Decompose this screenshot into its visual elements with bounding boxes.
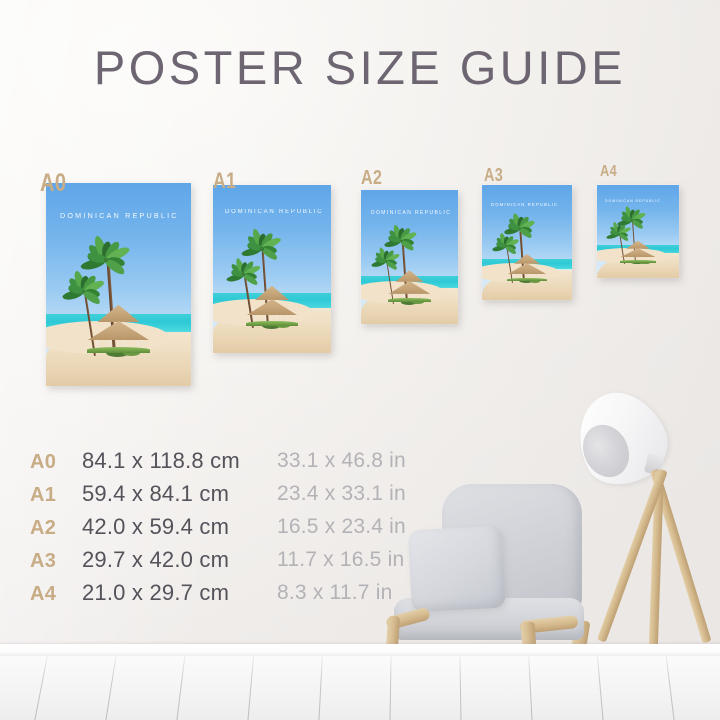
floor-plank	[528, 656, 534, 720]
floor-plank	[318, 656, 324, 720]
floor-plank	[665, 656, 677, 720]
poster-artwork-title: DOMINICAN REPUBLIC	[491, 202, 558, 207]
legend-cm-value: 84.1 x 118.8 cm	[82, 448, 240, 474]
hut-grass	[388, 298, 431, 302]
palm-crown	[518, 228, 520, 230]
poster-size-guide-image: POSTER SIZE GUIDE DOMINICAN REPUBLICA0DO…	[0, 0, 720, 720]
legend-code: A1	[30, 484, 56, 507]
poster-size-label-a3: A3	[484, 166, 503, 184]
floor-plank	[246, 656, 255, 720]
floor-plank	[31, 656, 49, 720]
chair-cushion	[408, 526, 506, 613]
legend-code: A3	[30, 550, 56, 573]
legend-code: A4	[30, 583, 56, 606]
poster-size-label-a2: A2	[361, 168, 382, 188]
poster-a2[interactable]: DOMINICAN REPUBLIC	[361, 190, 458, 324]
palm-crown	[631, 219, 633, 221]
legend-cm-value: 21.0 x 29.7 cm	[82, 580, 229, 606]
palm-crown	[260, 247, 263, 250]
poster-a0[interactable]: DOMINICAN REPUBLIC	[46, 183, 191, 386]
legend-cm-value: 29.7 x 42.0 cm	[82, 547, 229, 573]
floor-plank	[103, 656, 118, 720]
hut-grass	[246, 321, 298, 326]
hut-grass	[507, 278, 547, 281]
poster-size-label-a0: A0	[40, 171, 66, 196]
poster-a4[interactable]: DOMINICAN REPUBLIC	[597, 185, 679, 278]
floor-plank	[596, 656, 605, 720]
floor-plank	[389, 656, 392, 720]
hut-grass	[620, 260, 656, 263]
hut-grass	[87, 347, 151, 353]
poster-size-label-a1: A1	[213, 170, 236, 192]
poster-size-label-a4: A4	[600, 164, 617, 180]
floor-plank	[175, 656, 187, 720]
palm-crown	[242, 273, 245, 276]
legend-cm-value: 42.0 x 59.4 cm	[82, 514, 229, 540]
poster-artwork-title: DOMINICAN REPUBLIC	[371, 210, 451, 216]
poster-artwork-title: DOMINICAN REPUBLIC	[605, 199, 661, 203]
legend-cm-value: 59.4 x 84.1 cm	[82, 481, 229, 507]
poster-artwork-title: DOMINICAN REPUBLIC	[225, 209, 323, 215]
floor-plank	[459, 656, 462, 720]
poster-a3[interactable]: DOMINICAN REPUBLIC	[482, 185, 572, 300]
legend-code: A2	[30, 517, 56, 540]
wooden-floor	[0, 656, 720, 720]
poster-a1[interactable]: DOMINICAN REPUBLIC	[213, 185, 331, 353]
page-title: POSTER SIZE GUIDE	[0, 40, 720, 96]
poster-artwork-title: DOMINICAN REPUBLIC	[60, 211, 179, 220]
legend-code: A0	[30, 451, 56, 474]
